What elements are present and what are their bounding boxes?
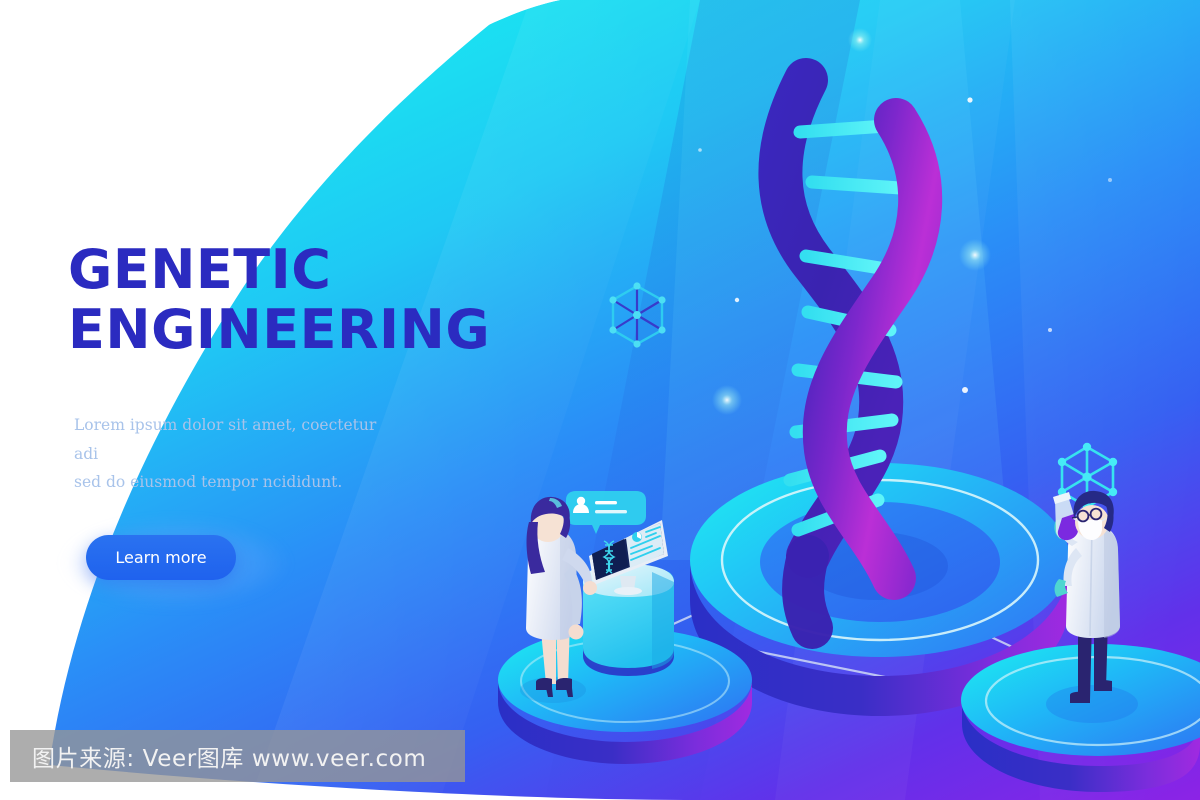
- dna-double-helix: [780, 80, 920, 628]
- hero-content: GENETIC ENGINEERING Lorem ipsum dolor si…: [68, 240, 488, 591]
- user-profile-card[interactable]: [566, 491, 646, 534]
- cta-container: Learn more: [86, 535, 266, 591]
- page-title: GENETIC ENGINEERING: [68, 240, 488, 361]
- learn-more-button[interactable]: Learn more: [86, 535, 236, 580]
- molecule-icon-left: [609, 282, 665, 347]
- watermark-text: 图片来源: Veer图库 www.veer.com: [32, 739, 426, 773]
- watermark-bar: 图片来源: Veer图库 www.veer.com: [10, 730, 465, 782]
- hero-banner: GENETIC ENGINEERING Lorem ipsum dolor si…: [0, 0, 1200, 800]
- hero-subtitle: Lorem ipsum dolor sit amet, coectetur ad…: [74, 411, 404, 497]
